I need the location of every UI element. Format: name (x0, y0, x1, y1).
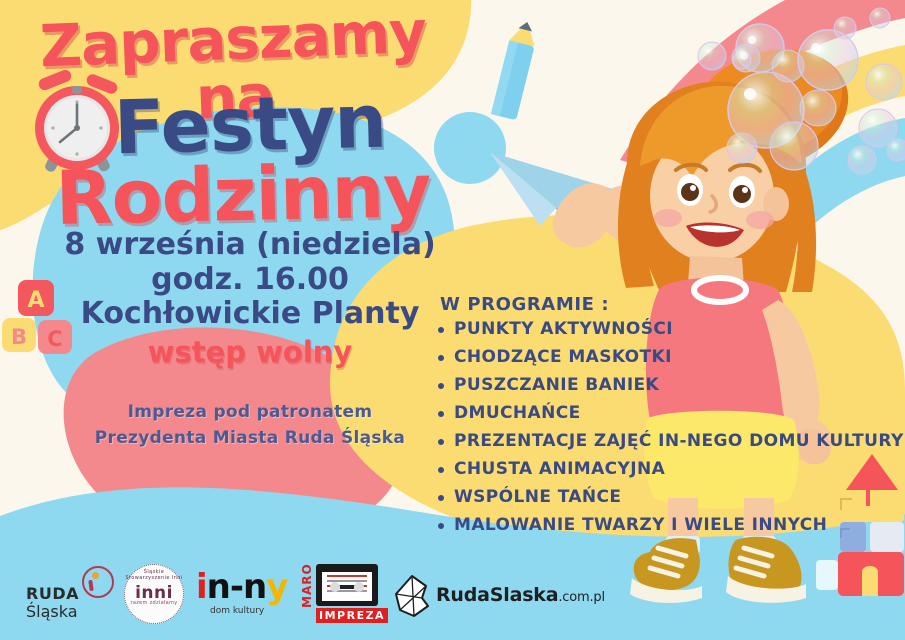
patronage-line-2: Prezydenta Miasta Ruda Śląska (60, 426, 440, 452)
in-ny-part-i: i (196, 567, 207, 607)
portal-domain: .com.pl (558, 590, 605, 605)
inni-subtitle: razem zdziałamy (124, 600, 184, 606)
portal-brand: RudaSlaska (436, 584, 558, 606)
festival-poster: A B C (0, 0, 905, 640)
programme-title: W PROGRAMIE : (440, 294, 898, 315)
programme-item: CHUSTA ANIMACYJNA (438, 461, 898, 478)
portal-wordmark: RudaSlaska.com.pl (436, 584, 605, 606)
inni-arc-text: Śląskie Stowarzyszenie Inni (124, 569, 184, 581)
maro-wordmark: MARO (300, 566, 314, 608)
svg-text:B: B (11, 325, 27, 349)
patronage-line-1: Impreza pod patronatem (60, 400, 440, 426)
cassette-tape-icon (316, 564, 378, 606)
programme-item: DMUCHAŃCE (438, 405, 898, 422)
ruda-slaska-city-logo: RUDA Śląska (26, 566, 118, 622)
programme-section: W PROGRAMIE : PUNKTY AKTYWNOŚCI CHODZĄCE… (438, 294, 898, 545)
cassette-reel-left (330, 582, 340, 592)
ruda-label: RUDA (26, 584, 79, 603)
cassette-text-line (327, 575, 367, 577)
portal-mark-icon (392, 574, 432, 618)
programme-item: PUNKTY AKTYWNOŚCI (438, 321, 898, 338)
cassette-reel-right (354, 582, 364, 592)
programme-item: PREZENTACJE ZAJĘĆ IN-NEGO DOMU KULTURY (438, 433, 898, 450)
in-ny-part-dash-n: -n (230, 567, 266, 607)
programme-list: PUNKTY AKTYWNOŚCI CHODZĄCE MASKOTKI PUSZ… (438, 321, 898, 534)
rudaslaska-portal-logo: RudaSlaska.com.pl (392, 574, 572, 618)
in-ny-wordmark: in-ny (196, 570, 287, 604)
ruda-slaska-emblem-icon (82, 566, 114, 598)
in-ny-dom-kultury-logo: in-ny dom kultury (196, 566, 292, 624)
programme-item: CHODZĄCE MASKOTKI (438, 349, 898, 366)
inni-association-logo: Śląskie Stowarzyszenie Inni inni razem z… (124, 564, 184, 624)
slaska-label: Śląska (26, 602, 78, 621)
free-entry-note: wstęp wolny (40, 338, 460, 367)
in-ny-part-y: y (266, 567, 287, 607)
title-line-2: Rodzinny (27, 154, 458, 237)
event-date: 8 września (niedziela) (40, 228, 460, 263)
in-ny-part-n: n (207, 567, 230, 607)
event-details: 8 września (niedziela) godz. 16.00 Kochł… (40, 228, 460, 332)
in-ny-subtitle: dom kultury (210, 606, 264, 616)
event-time: godz. 16.00 (40, 263, 460, 298)
programme-item: PUSZCZANIE BANIEK (438, 377, 898, 394)
cassette-bar (340, 585, 354, 589)
patronage-note: Impreza pod patronatem Prezydenta Miasta… (60, 400, 440, 451)
programme-item: WSPÓLNE TAŃCE (438, 489, 898, 506)
maro-impreza-logo: MARO IMPREZA (300, 564, 380, 626)
impreza-banner: IMPREZA (316, 608, 388, 623)
sponsor-logo-bar: RUDA Śląska Śląskie Stowarzyszenie Inni … (0, 554, 905, 640)
programme-item: MALOWANIE TWARZY I WIELE INNYCH (438, 517, 898, 534)
event-location: Kochłowickie Planty (40, 297, 460, 332)
